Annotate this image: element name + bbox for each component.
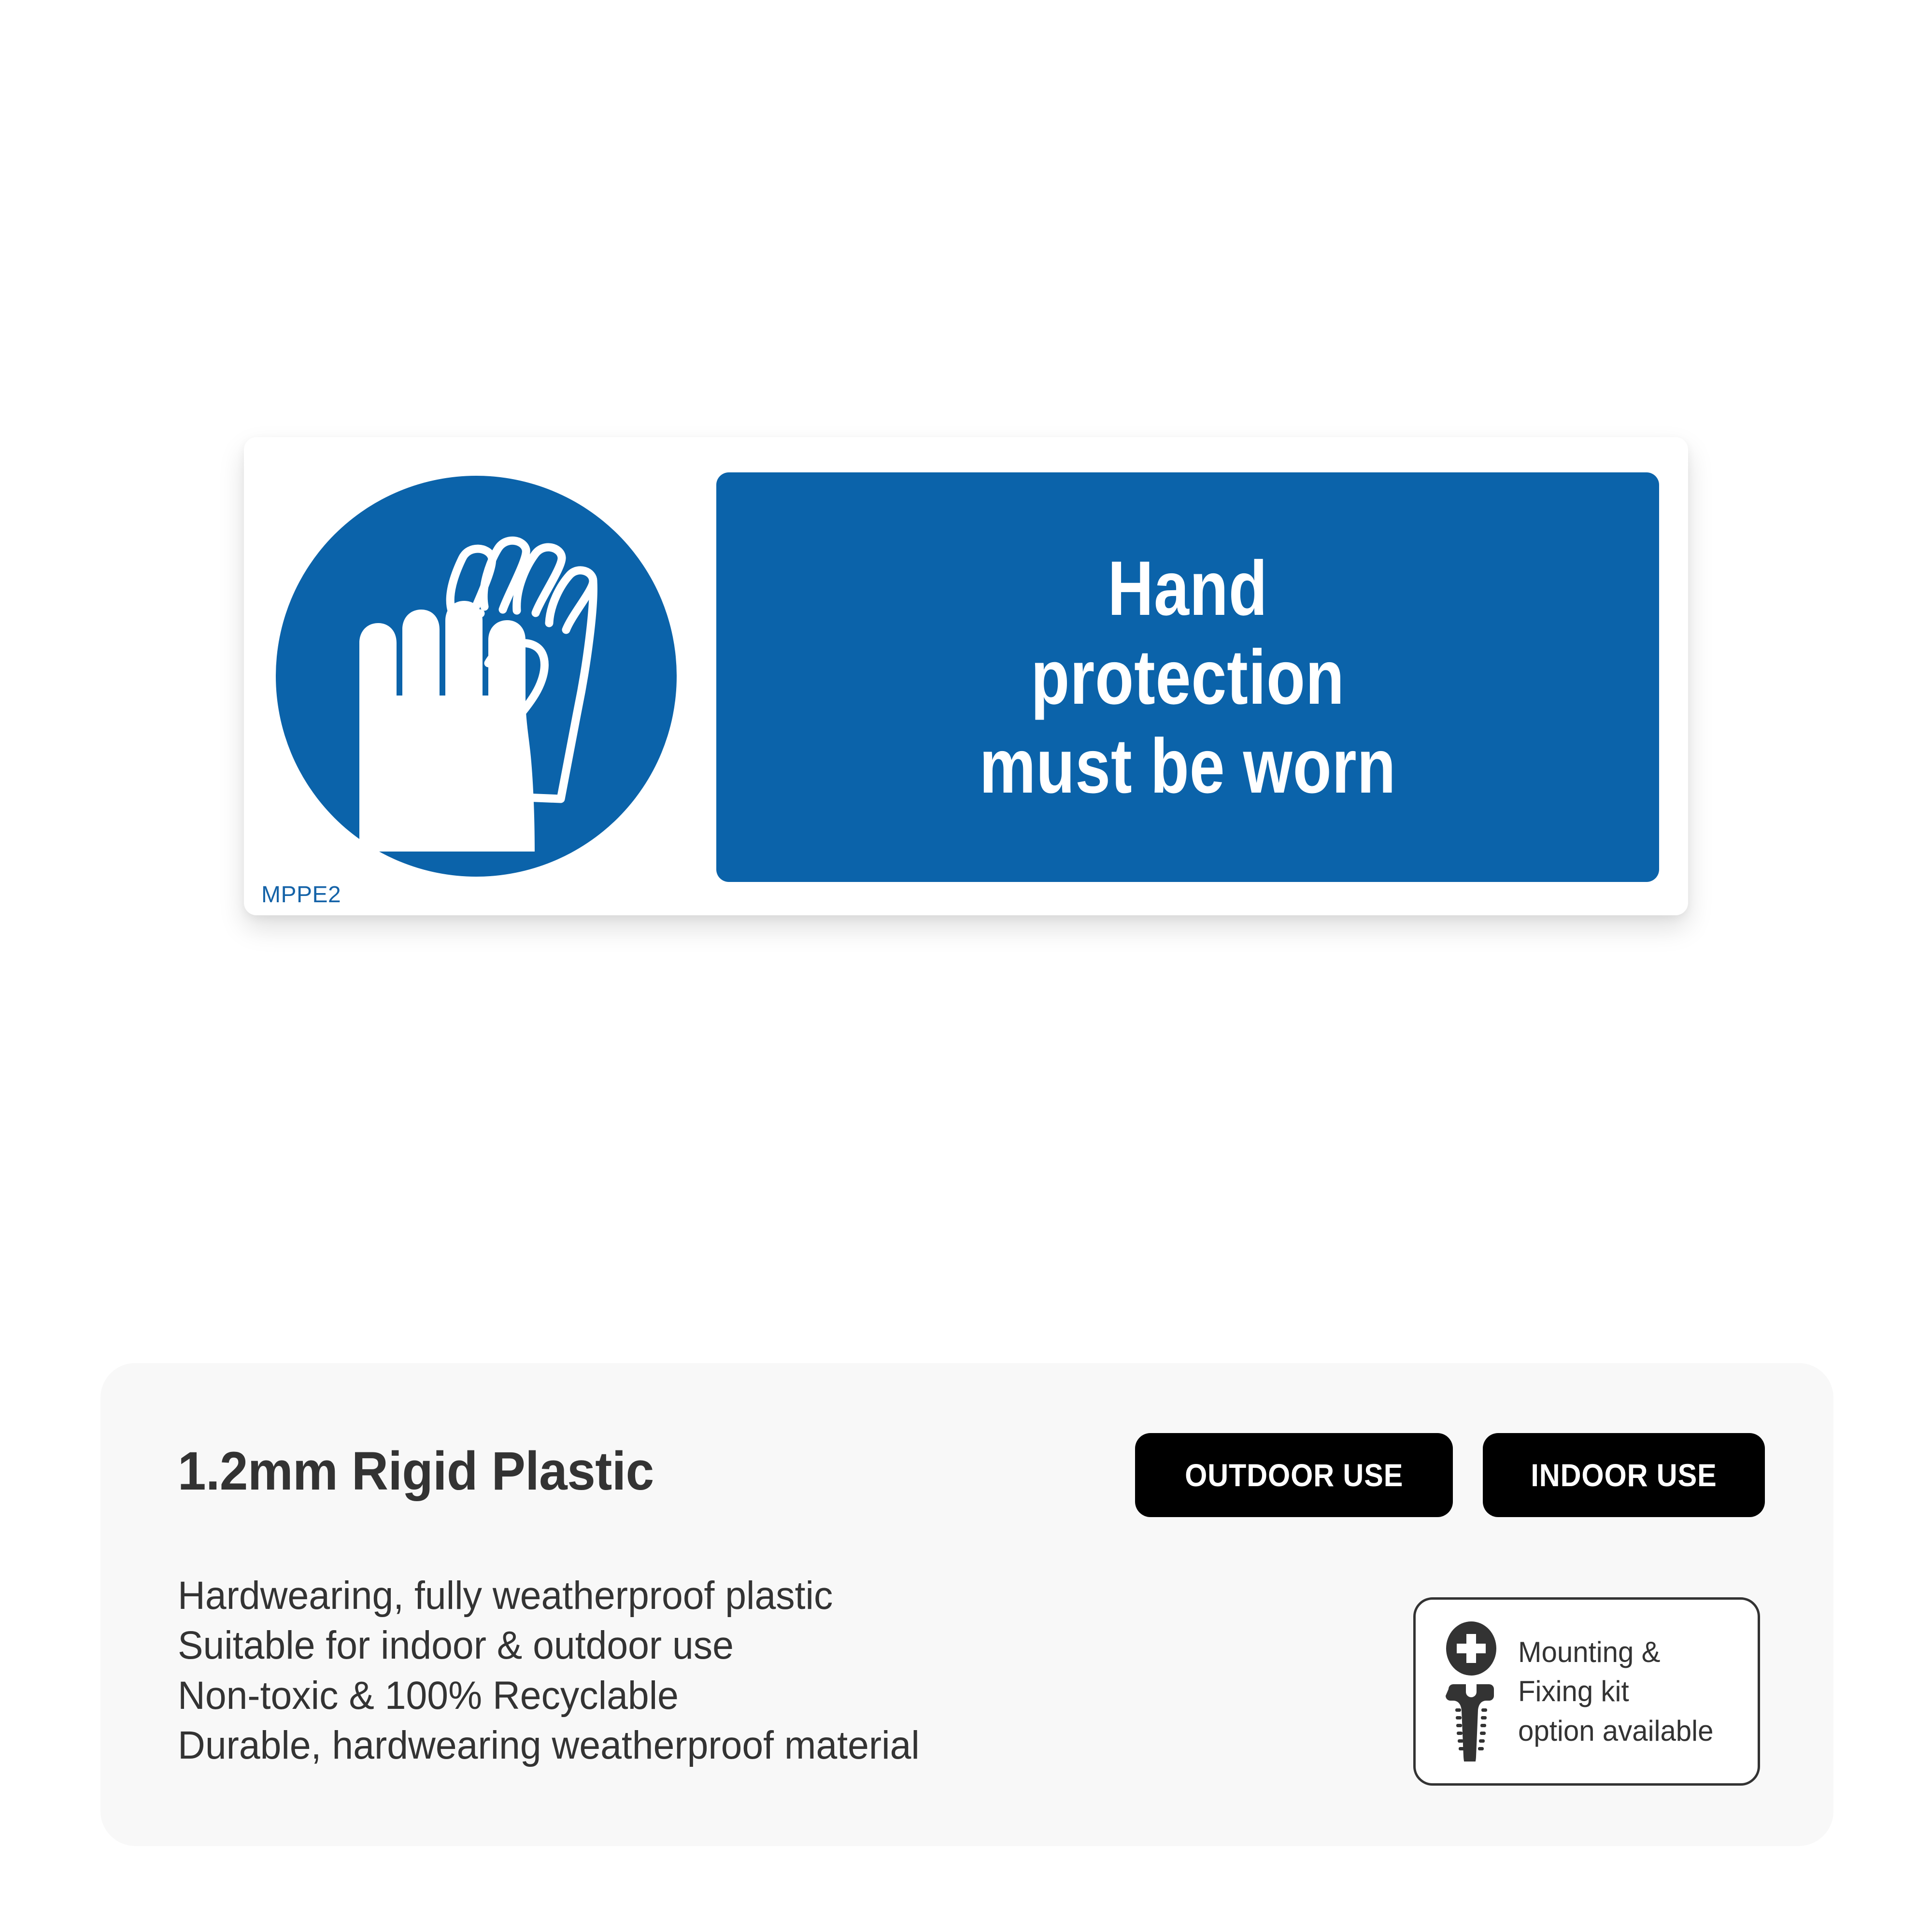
mounting-kit-box[interactable]: Mounting & Fixing kit option available xyxy=(1413,1597,1760,1786)
screw-head-icon xyxy=(1446,1621,1496,1676)
outdoor-use-badge-label: OUTDOOR USE xyxy=(1185,1457,1403,1493)
sign-legend-panel: Hand protection must be worn xyxy=(716,472,1659,882)
list-item: Hardwearing, fully weatherproof plastic xyxy=(178,1571,920,1620)
indoor-use-badge[interactable]: INDOOR USE xyxy=(1483,1433,1765,1517)
safety-gloves-icon xyxy=(276,476,677,877)
material-info-panel: 1.2mm Rigid Plastic Hardwearing, fully w… xyxy=(100,1363,1833,1846)
use-badge-group: OUTDOOR USE INDOOR USE xyxy=(1135,1433,1765,1517)
screw-icon xyxy=(1446,1684,1494,1762)
mounting-kit-icons xyxy=(1441,1621,1502,1762)
list-item: Suitable for indoor & outdoor use xyxy=(178,1620,920,1670)
sign-legend-text: Hand protection must be worn xyxy=(980,544,1396,810)
list-item: Durable, hardwearing weatherproof materi… xyxy=(178,1720,920,1770)
outdoor-use-badge[interactable]: OUTDOOR USE xyxy=(1135,1433,1453,1517)
material-feature-list: Hardwearing, fully weatherproof plastic … xyxy=(178,1571,920,1770)
indoor-use-badge-label: INDOOR USE xyxy=(1531,1457,1717,1493)
mounting-kit-label: Mounting & Fixing kit option available xyxy=(1518,1633,1713,1751)
sign-product-card[interactable]: Hand protection must be worn MPPE2 xyxy=(244,437,1688,915)
sign-product-code: MPPE2 xyxy=(261,883,341,907)
material-title: 1.2mm Rigid Plastic xyxy=(178,1444,654,1498)
list-item: Non-toxic & 100% Recyclable xyxy=(178,1671,920,1720)
